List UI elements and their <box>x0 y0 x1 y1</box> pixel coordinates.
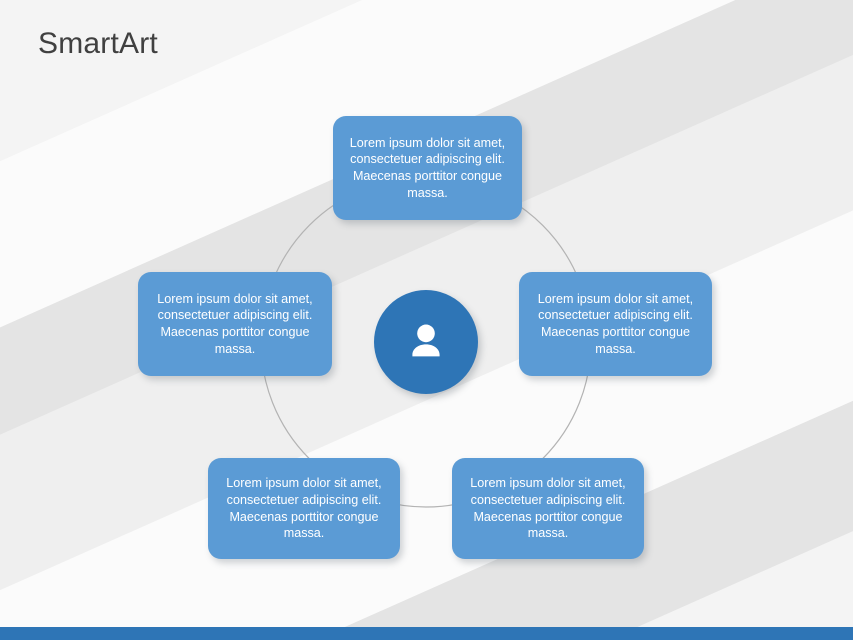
smartart-node-left[interactable]: Lorem ipsum dolor sit amet, consectetuer… <box>138 272 332 376</box>
person-icon <box>403 319 449 365</box>
smartart-node-top[interactable]: Lorem ipsum dolor sit amet, consectetuer… <box>333 116 522 220</box>
smartart-node-bottom-left[interactable]: Lorem ipsum dolor sit amet, consectetuer… <box>208 458 400 559</box>
smartart-node-right[interactable]: Lorem ipsum dolor sit amet, consectetuer… <box>519 272 712 376</box>
slide-canvas: SmartArt Lorem ipsum dolor sit amet, con… <box>0 0 853 640</box>
node-text: Lorem ipsum dolor sit amet, consectetuer… <box>345 135 510 202</box>
node-text: Lorem ipsum dolor sit amet, consectetuer… <box>464 475 632 542</box>
footer-accent-bar <box>0 627 853 640</box>
node-text: Lorem ipsum dolor sit amet, consectetuer… <box>150 291 320 358</box>
smartart-diagram: Lorem ipsum dolor sit amet, consectetuer… <box>0 0 853 640</box>
node-text: Lorem ipsum dolor sit amet, consectetuer… <box>220 475 388 542</box>
smartart-node-bottom-right[interactable]: Lorem ipsum dolor sit amet, consectetuer… <box>452 458 644 559</box>
node-text: Lorem ipsum dolor sit amet, consectetuer… <box>531 291 700 358</box>
center-hub[interactable] <box>374 290 478 394</box>
